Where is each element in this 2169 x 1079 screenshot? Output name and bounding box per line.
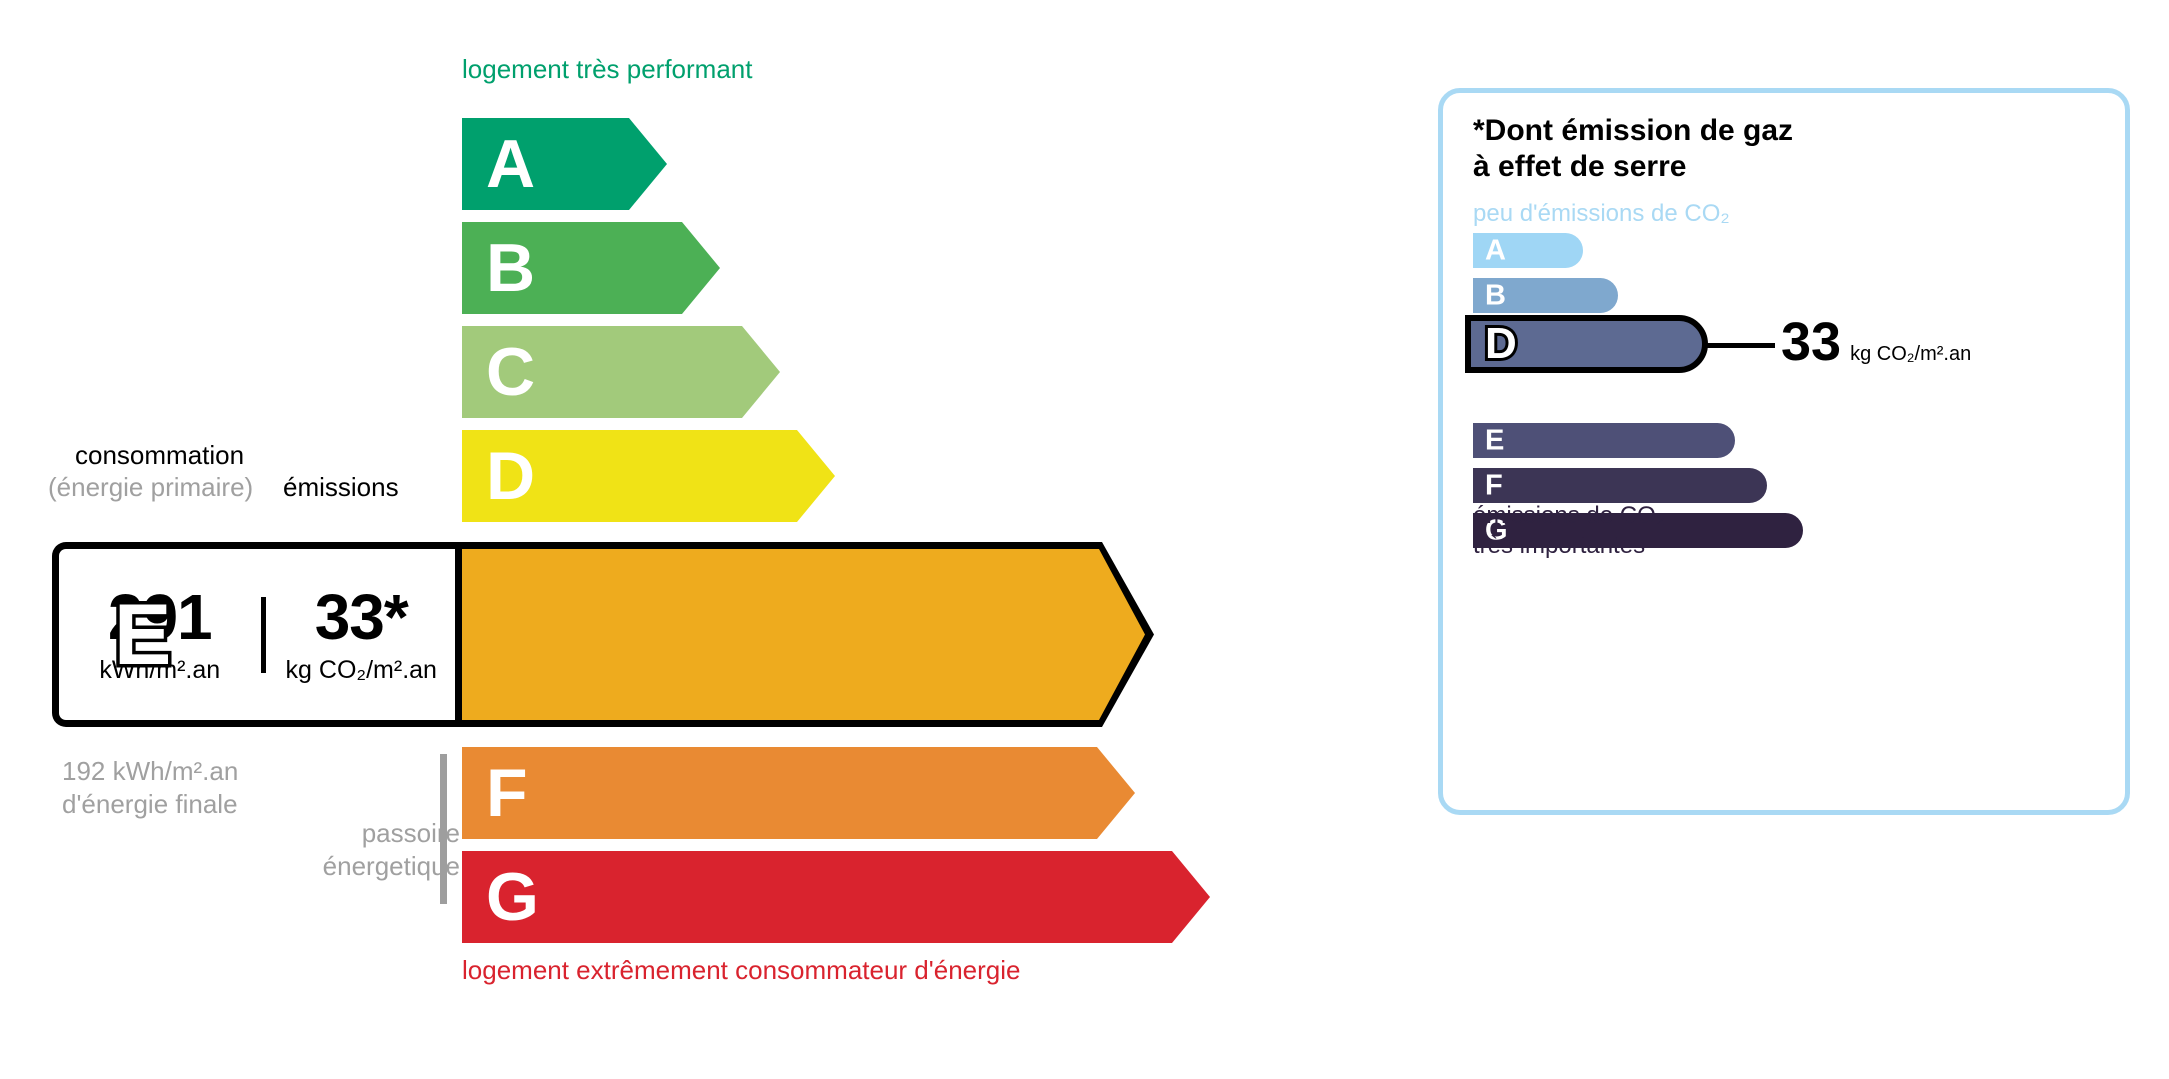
consumption-sublabel: (énergie primaire) — [48, 472, 253, 503]
energy-emission-value: 33* — [261, 585, 463, 649]
energy-arrow-e — [462, 549, 1145, 720]
energy-grade-row-a[interactable]: A — [462, 118, 667, 210]
final-energy-label: 192 kWh/m².an d'énergie finale — [62, 755, 238, 820]
energy-grade-row-f[interactable]: F — [462, 747, 1135, 839]
energy-arrow-e-outline — [455, 542, 1154, 727]
energy-selected-wrapper: 291 kWh/m².an 33* kg CO₂/m².an E — [52, 542, 1144, 727]
co2-grade-row-e[interactable]: E — [1473, 423, 1735, 458]
co2-value-connector-line — [1701, 343, 1775, 348]
co2-panel-title: *Dont émission de gaz à effet de serre — [1473, 113, 1793, 185]
co2-bottom-caption: émissions de CO₂ très importantes — [1473, 501, 1665, 561]
co2-grade-letter-d: D — [1485, 322, 1517, 366]
energy-arrow-g: G — [462, 851, 1210, 943]
co2-grade-letter-b: B — [1485, 281, 1506, 310]
co2-title-line-1: *Dont émission de gaz — [1473, 113, 1793, 149]
energy-grade-letter-b: B — [486, 234, 535, 302]
co2-grade-row-a[interactable]: A — [1473, 233, 1583, 268]
energy-grade-letter-a: A — [486, 130, 535, 198]
energy-grade-rows: A B C D 291 — [0, 0, 1300, 1079]
energy-grade-row-g[interactable]: G — [462, 851, 1210, 943]
energy-grade-letter-f: F — [486, 759, 528, 827]
co2-grade-letter-a: A — [1485, 236, 1506, 265]
energy-arrow-b: B — [462, 222, 720, 314]
energy-grade-letter-d: D — [486, 442, 535, 510]
energy-grade-row-e-selected[interactable]: 291 kWh/m².an 33* kg CO₂/m².an E — [52, 542, 1144, 727]
energy-grade-row-b[interactable]: B — [462, 222, 720, 314]
co2-emissions-panel: *Dont émission de gaz à effet de serre p… — [1438, 88, 2130, 815]
passoire-energetique-label: passoire énergetique — [300, 817, 460, 882]
co2-grade-letter-f: F — [1485, 471, 1503, 500]
energy-bottom-caption: logement extrêmement consommateur d'éner… — [462, 955, 1020, 986]
co2-value: 33 — [1781, 315, 1841, 369]
energy-grade-row-d[interactable]: D — [462, 430, 835, 522]
final-energy-line-2: d'énergie finale — [62, 788, 238, 821]
co2-top-caption: peu d'émissions de CO₂ — [1473, 200, 1730, 228]
energy-performance-chart: logement très performant A B C D — [0, 0, 1300, 1079]
co2-grade-row-b[interactable]: B — [1473, 278, 1618, 313]
co2-value-unit: kg CO₂/m².an — [1850, 343, 1971, 366]
energy-arrow-f: F — [462, 747, 1135, 839]
energy-arrow-d: D — [462, 430, 835, 522]
final-energy-line-1: 192 kWh/m².an — [62, 755, 238, 788]
energy-grade-row-c[interactable]: C — [462, 326, 780, 418]
co2-grade-row-d-selected[interactable]: D — [1465, 315, 1708, 373]
consumption-label: consommation — [75, 440, 244, 471]
energy-arrow-a: A — [462, 118, 667, 210]
co2-grade-letter-e: E — [1485, 426, 1504, 455]
co2-value-group: 33 kg CO₂/m².an — [1781, 315, 1971, 369]
passoire-bracket-bar — [440, 754, 447, 904]
co2-bottom-caption-line-2: très importantes — [1473, 531, 1665, 561]
energy-emission-value-group: 33* kg CO₂/m².an — [261, 585, 463, 685]
energy-grade-letter-c: C — [486, 338, 535, 406]
energy-arrow-c: C — [462, 326, 780, 418]
emissions-label: émissions — [283, 472, 399, 503]
co2-grade-row-f[interactable]: F — [1473, 468, 1767, 503]
energy-grade-letter-e: E — [114, 592, 171, 678]
energy-emission-unit: kg CO₂/m².an — [261, 655, 463, 685]
passoire-line-2: énergetique — [300, 850, 460, 883]
co2-title-line-2: à effet de serre — [1473, 149, 1793, 185]
energy-grade-letter-g: G — [486, 863, 539, 931]
co2-bottom-caption-line-1: émissions de CO₂ — [1473, 501, 1665, 531]
passoire-line-1: passoire — [300, 817, 460, 850]
